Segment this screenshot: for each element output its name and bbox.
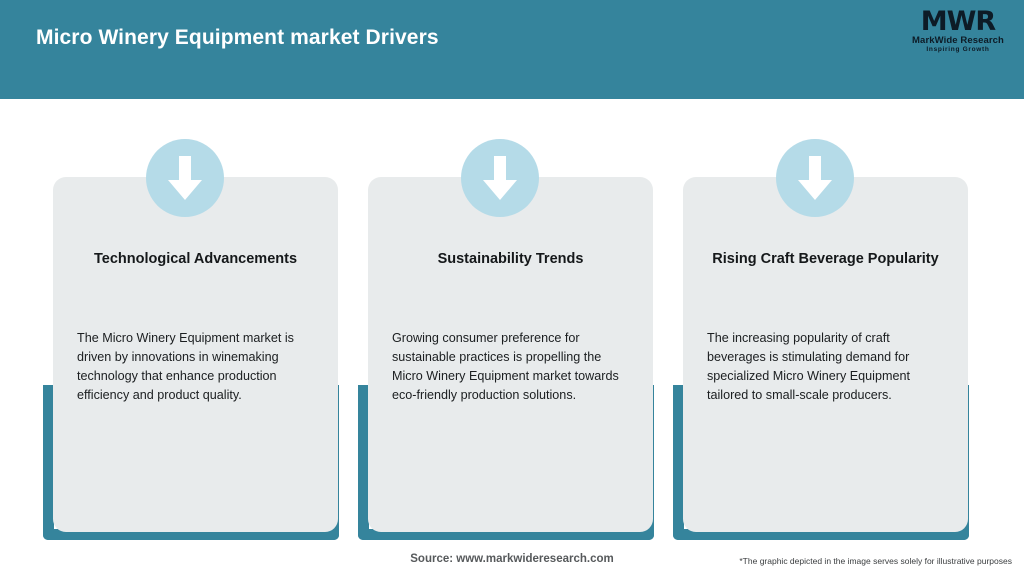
brand-logo: MWR MarkWide Research Inspiring Growth xyxy=(906,8,1010,62)
logo-tagline: Inspiring Growth xyxy=(906,47,1010,54)
disclaimer-note: *The graphic depicted in the image serve… xyxy=(739,556,1012,566)
arrow-down-icon xyxy=(146,139,224,217)
arrow-down-icon xyxy=(776,139,854,217)
driver-column: Technological Advancements The Micro Win… xyxy=(43,99,339,543)
logo-mark-icon: MWR xyxy=(906,8,1010,35)
driver-card-body: The Micro Winery Equipment market is dri… xyxy=(77,329,320,405)
header-band: Micro Winery Equipment market Drivers MW… xyxy=(0,0,1024,99)
page-title: Micro Winery Equipment market Drivers xyxy=(36,26,439,50)
logo-company-name: MarkWide Research xyxy=(906,36,1010,46)
driver-card[interactable]: Sustainability Trends Growing consumer p… xyxy=(368,177,653,532)
driver-card-title: Rising Craft Beverage Popularity xyxy=(701,249,950,270)
driver-card-body: The increasing popularity of craft bever… xyxy=(707,329,950,405)
driver-card[interactable]: Rising Craft Beverage Popularity The inc… xyxy=(683,177,968,532)
drivers-board: Technological Advancements The Micro Win… xyxy=(0,99,1024,576)
driver-column: Rising Craft Beverage Popularity The inc… xyxy=(673,99,969,543)
driver-card-title: Sustainability Trends xyxy=(386,249,635,270)
driver-card-title: Technological Advancements xyxy=(71,249,320,270)
driver-column: Sustainability Trends Growing consumer p… xyxy=(358,99,654,543)
driver-card-body: Growing consumer preference for sustaina… xyxy=(392,329,635,405)
driver-card[interactable]: Technological Advancements The Micro Win… xyxy=(53,177,338,532)
arrow-down-icon xyxy=(461,139,539,217)
